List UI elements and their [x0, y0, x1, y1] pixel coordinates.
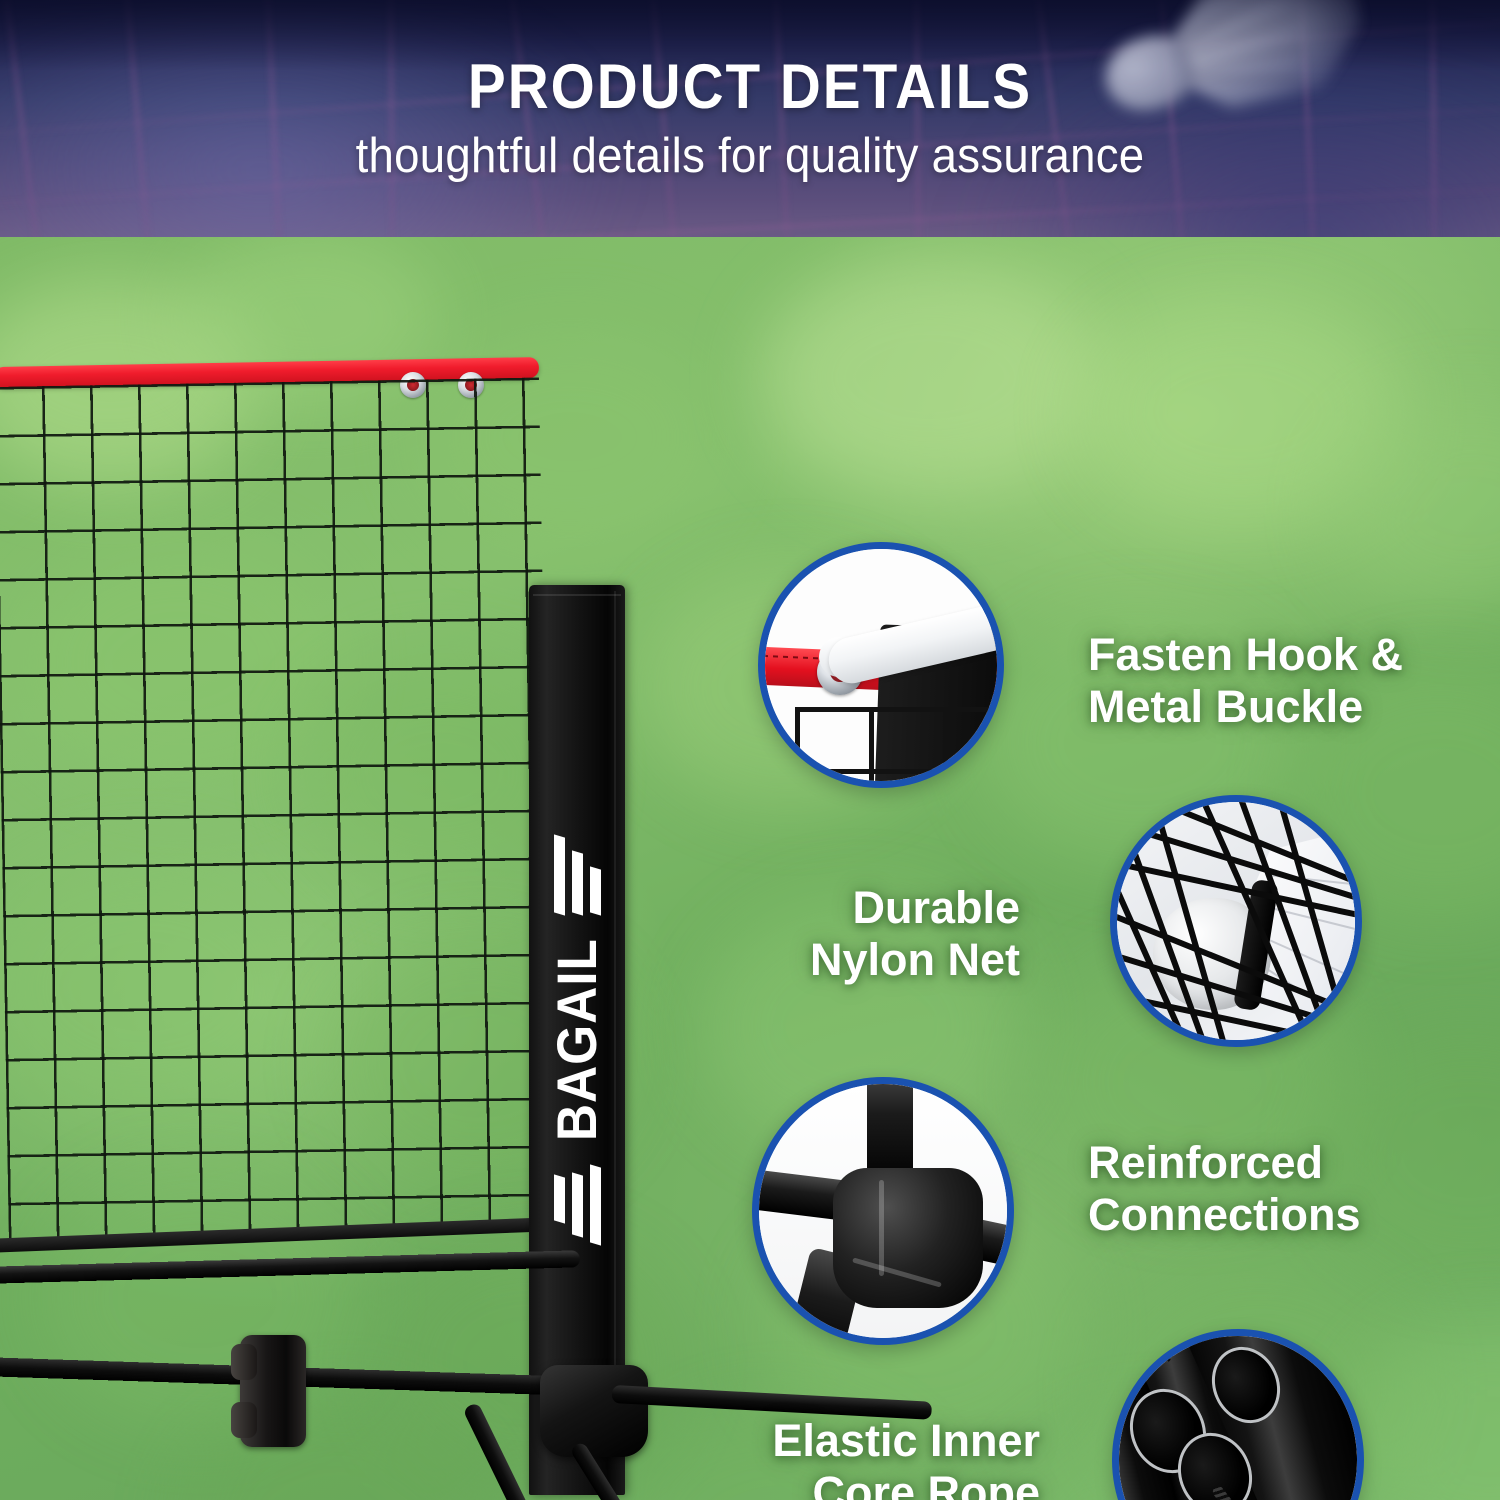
- callout-label-durable-nylon-net: Durable Nylon Net: [640, 882, 1020, 986]
- product-photo-area: BAGAIL Fasten Hook & Metal Buckle: [0, 237, 1500, 1500]
- callout-label-reinforced-connections: Reinforced Connections: [1088, 1137, 1468, 1241]
- callout-image-elastic-inner-core-rope: [1112, 1329, 1364, 1500]
- brand-logo: BAGAIL: [537, 740, 617, 1340]
- brand-name: BAGAIL: [549, 938, 605, 1141]
- callout-image-reinforced-connections: [752, 1077, 1014, 1345]
- product-details-infographic: PRODUCT DETAILS thoughtful details for q…: [0, 0, 1500, 1500]
- callout-image-fasten-hook: [758, 542, 1004, 788]
- post-top-seam: [533, 594, 621, 596]
- callout-label-fasten-hook: Fasten Hook & Metal Buckle: [1088, 629, 1458, 733]
- callout-label-elastic-inner-core-rope: Elastic Inner Core Rope: [700, 1415, 1040, 1500]
- badminton-net: [0, 367, 539, 1267]
- page-subtitle: thoughtful details for quality assurance: [53, 132, 1448, 181]
- base-clip-fitting: [240, 1335, 306, 1447]
- base-t-joint: [540, 1365, 648, 1457]
- callout-image-durable-nylon-net: [1110, 795, 1362, 1047]
- net-mesh: [0, 377, 554, 1238]
- net-post: BAGAIL: [529, 585, 625, 1495]
- page-title: PRODUCT DETAILS: [75, 56, 1425, 119]
- brand-mark-icon: [554, 1166, 601, 1244]
- brand-mark-icon: [554, 836, 601, 914]
- header-banner: PRODUCT DETAILS thoughtful details for q…: [0, 0, 1500, 237]
- joint-hub: [833, 1168, 983, 1308]
